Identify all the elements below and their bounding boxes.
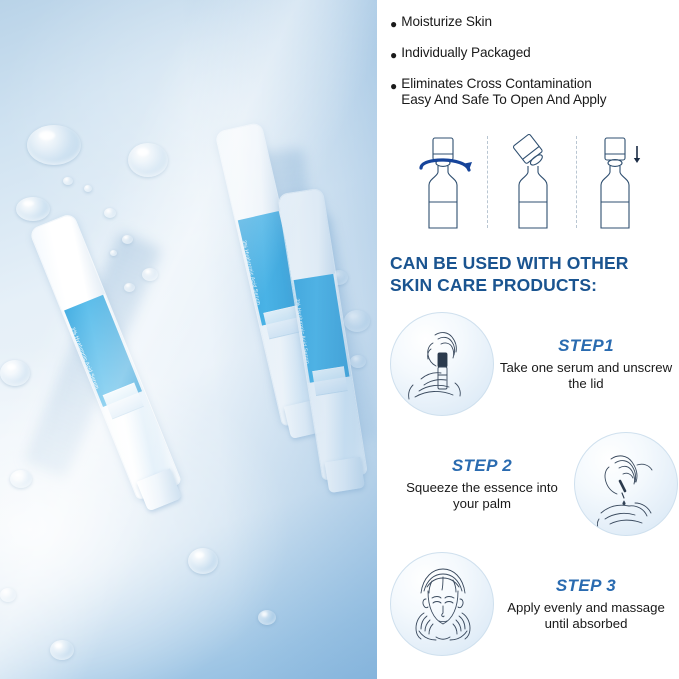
- remove-cap-icon: [492, 132, 572, 232]
- step-1-label: STEP1: [498, 336, 674, 356]
- water-droplet: [0, 588, 16, 602]
- water-droplet: [142, 268, 158, 281]
- squeeze-down-icon: [581, 132, 661, 232]
- feature-bullet-list: ● Moisturize Skin ● Individually Package…: [390, 14, 678, 123]
- howto-step-squeeze: [577, 132, 665, 232]
- water-droplet: [50, 640, 74, 660]
- product-photo: 3% Hyaluronic Acid Serum NET 1.5ML/0.05F…: [0, 0, 377, 679]
- bullet-text: Moisturize Skin: [401, 14, 492, 30]
- water-droplet: [344, 310, 370, 332]
- water-droplet: [0, 360, 30, 386]
- bullet-dot-icon: ●: [390, 80, 397, 92]
- step-3: STEP 3 Apply evenly and massage until ab…: [390, 548, 678, 660]
- step-3-text: STEP 3 Apply evenly and massage until ab…: [494, 576, 678, 632]
- hand-holding-ampoule-icon: [390, 312, 494, 416]
- step-2-label: STEP 2: [394, 456, 570, 476]
- howto-step-twist: [399, 132, 487, 232]
- water-droplet: [128, 143, 168, 177]
- page-title-line2: SKIN CARE PRODUCTS:: [390, 274, 676, 296]
- water-droplet: [104, 208, 116, 218]
- bullet-text: Individually Packaged: [401, 45, 530, 61]
- water-droplet: [188, 548, 218, 574]
- bullet-dot-icon: ●: [390, 18, 397, 30]
- ampoule-cap-top: [216, 123, 281, 221]
- how-to-open-diagram: [399, 132, 665, 232]
- step-2-desc: Squeeze the essence into your palm: [394, 480, 570, 512]
- howto-step-remove: [488, 132, 576, 232]
- page-title: CAN BE USED WITH OTHER SKIN CARE PRODUCT…: [390, 252, 676, 296]
- step-2: STEP 2 Squeeze the essence into your pal…: [390, 428, 678, 540]
- page-title-line1: CAN BE USED WITH OTHER: [390, 252, 676, 274]
- ampoule-base-cap: [325, 457, 365, 494]
- list-item: ● Moisturize Skin: [390, 14, 678, 30]
- bullet-text: Eliminates Cross Contamination Easy And …: [401, 76, 606, 108]
- step-3-desc: Apply evenly and massage until absorbed: [498, 600, 674, 632]
- twist-cap-icon: [403, 132, 483, 232]
- water-droplet: [350, 355, 366, 368]
- water-droplet: [63, 177, 73, 185]
- ampoule-label-text: 3% Hyaluronic Acid Serum: [240, 240, 261, 306]
- step-2-text: STEP 2 Squeeze the essence into your pal…: [390, 456, 574, 512]
- water-droplet: [124, 283, 135, 292]
- step-3-label: STEP 3: [498, 576, 674, 596]
- water-droplet: [27, 125, 81, 165]
- bullet-dot-icon: ●: [390, 49, 397, 61]
- water-droplet: [122, 235, 133, 244]
- water-droplet: [16, 197, 50, 221]
- info-panel: ● Moisturize Skin ● Individually Package…: [377, 0, 679, 679]
- hand-squeezing-into-palm-icon: [574, 432, 678, 536]
- step-1-desc: Take one serum and unscrew the lid: [498, 360, 674, 392]
- list-item: ● Individually Packaged: [390, 45, 678, 61]
- water-droplet: [10, 470, 32, 488]
- step-1-text: STEP1 Take one serum and unscrew the lid: [494, 336, 678, 392]
- list-item: ● Eliminates Cross Contamination Easy An…: [390, 76, 678, 108]
- ampoule-neck: [312, 366, 347, 397]
- water-droplet: [110, 250, 117, 256]
- water-droplet: [84, 185, 92, 192]
- water-droplet: [258, 610, 276, 625]
- face-massage-icon: [390, 552, 494, 656]
- step-1: STEP1 Take one serum and unscrew the lid: [390, 308, 678, 420]
- ampoule-cap-top: [30, 213, 105, 311]
